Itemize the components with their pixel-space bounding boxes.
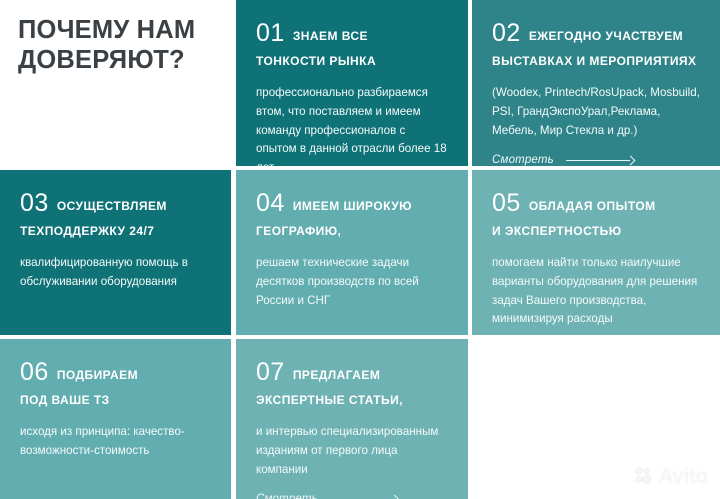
card-02-number: 02: [492, 19, 521, 47]
title-cell: ПОЧЕМУ НАМ ДОВЕРЯЮТ?: [0, 0, 231, 166]
card-05-head: 05ОБЛАДАЯ ОПЫТОМ И ЭКСПЕРТНОСТЬЮ: [492, 187, 700, 241]
card-04-inner: 04ИМЕЕМ ШИРОКУЮ ГЕОГРАФИЮ, решаем технич…: [236, 170, 468, 335]
card-06-number: 06: [20, 358, 49, 386]
card-07[interactable]: 07ПРЕДЛАГАЕМ ЭКСПЕРТНЫЕ СТАТЬИ, и интерв…: [236, 339, 468, 499]
card-03-head-line-1: ОСУЩЕСТВЛЯЕМ: [57, 199, 167, 213]
card-02-head: 02ЕЖЕГОДНО УЧАСТВУЕМ ВЫСТАВКАХ И МЕРОПРИ…: [492, 17, 700, 71]
card-06[interactable]: 06ПОДБИРАЕМ ПОД ВАШЕ ТЗ исходя из принци…: [0, 339, 231, 499]
card-07-body: и интервью специализированным изданиям о…: [256, 423, 448, 479]
avito-watermark: Avito: [636, 466, 708, 487]
card-01-body: профессионально разбираемся втом, что по…: [256, 84, 448, 166]
card-01[interactable]: 01ЗНАЕМ ВСЕ ТОНКОСТИ РЫНКА профессиональ…: [236, 0, 468, 166]
card-03-body: квалифицированную помощь в обслуживании …: [20, 254, 211, 292]
card-05-head-line-1: ОБЛАДАЯ ОПЫТОМ: [529, 199, 656, 213]
card-02-inner: 02ЕЖЕГОДНО УЧАСТВУЕМ ВЫСТАВКАХ И МЕРОПРИ…: [472, 0, 720, 166]
card-06-inner: 06ПОДБИРАЕМ ПОД ВАШЕ ТЗ исходя из принци…: [0, 339, 231, 499]
card-04-head-line-2: ГЕОГРАФИЮ,: [256, 224, 341, 238]
card-02-head-line-1: ЕЖЕГОДНО УЧАСТВУЕМ: [529, 29, 683, 43]
card-03-head: 03ОСУЩЕСТВЛЯЕМ ТЕХПОДДЕРЖКУ 24/7: [20, 187, 211, 241]
card-05-inner: 05ОБЛАДАЯ ОПЫТОМ И ЭКСПЕРТНОСТЬЮ помогае…: [472, 170, 720, 335]
card-05-number: 05: [492, 189, 521, 217]
card-07-head: 07ПРЕДЛАГАЕМ ЭКСПЕРТНЫЕ СТАТЬИ,: [256, 356, 448, 410]
card-06-head: 06ПОДБИРАЕМ ПОД ВАШЕ ТЗ: [20, 356, 211, 410]
card-01-number: 01: [256, 19, 285, 47]
card-03-inner: 03ОСУЩЕСТВЛЯЕМ ТЕХПОДДЕРЖКУ 24/7 квалифи…: [0, 170, 231, 335]
card-07-inner: 07ПРЕДЛАГАЕМ ЭКСПЕРТНЫЕ СТАТЬИ, и интерв…: [236, 339, 468, 499]
card-04-head-line-1: ИМЕЕМ ШИРОКУЮ: [293, 199, 412, 213]
page-title-line-2: ДОВЕРЯЮТ?: [18, 46, 213, 76]
infographic-board: ПОЧЕМУ НАМ ДОВЕРЯЮТ? 01ЗНАЕМ ВСЕ ТОНКОСТ…: [0, 0, 720, 499]
arrow-right-icon: [330, 495, 398, 499]
arrow-right-icon: [566, 156, 634, 165]
card-05-head-line-2: И ЭКСПЕРТНОСТЬЮ: [492, 224, 622, 238]
card-03-head-line-2: ТЕХПОДДЕРЖКУ 24/7: [20, 224, 154, 238]
card-01-inner: 01ЗНАЕМ ВСЕ ТОНКОСТИ РЫНКА профессиональ…: [236, 0, 468, 166]
card-02-body: (Woodex, Printech/RosUpack, Mosbuild, PS…: [492, 84, 700, 140]
title-wrap: ПОЧЕМУ НАМ ДОВЕРЯЮТ?: [0, 0, 231, 75]
card-07-link[interactable]: Смотреть: [256, 493, 448, 499]
card-02-link[interactable]: Смотреть: [492, 154, 700, 166]
card-05[interactable]: 05ОБЛАДАЯ ОПЫТОМ И ЭКСПЕРТНОСТЬЮ помогае…: [472, 170, 720, 335]
card-01-head: 01ЗНАЕМ ВСЕ ТОНКОСТИ РЫНКА: [256, 17, 448, 71]
page-title-line-1: ПОЧЕМУ НАМ: [18, 16, 213, 46]
card-01-head-line-2: ТОНКОСТИ РЫНКА: [256, 54, 376, 68]
card-03-number: 03: [20, 189, 49, 217]
card-02-link-label: Смотреть: [492, 154, 554, 166]
card-06-head-line-1: ПОДБИРАЕМ: [57, 368, 138, 382]
card-07-number: 07: [256, 358, 285, 386]
card-04[interactable]: 04ИМЕЕМ ШИРОКУЮ ГЕОГРАФИЮ, решаем технич…: [236, 170, 468, 335]
card-03[interactable]: 03ОСУЩЕСТВЛЯЕМ ТЕХПОДДЕРЖКУ 24/7 квалифи…: [0, 170, 231, 335]
avito-logo-icon: [636, 468, 653, 485]
card-02-head-line-2: ВЫСТАВКАХ И МЕРОПРИЯТИЯХ: [492, 54, 696, 68]
card-07-head-line-1: ПРЕДЛАГАЕМ: [293, 368, 380, 382]
card-06-body: исходя из принципа: качество-возможности…: [20, 423, 211, 461]
card-04-number: 04: [256, 189, 285, 217]
card-07-head-line-2: ЭКСПЕРТНЫЕ СТАТЬИ,: [256, 393, 403, 407]
card-02[interactable]: 02ЕЖЕГОДНО УЧАСТВУЕМ ВЫСТАВКАХ И МЕРОПРИ…: [472, 0, 720, 166]
card-05-body: помогаем найти только наилучшие варианты…: [492, 254, 700, 329]
avito-watermark-label: Avito: [658, 466, 708, 487]
card-07-link-label: Смотреть: [256, 493, 318, 499]
card-04-body: решаем технические задачи десятков произ…: [256, 254, 448, 310]
page-title: ПОЧЕМУ НАМ ДОВЕРЯЮТ?: [18, 16, 213, 75]
card-04-head: 04ИМЕЕМ ШИРОКУЮ ГЕОГРАФИЮ,: [256, 187, 448, 241]
card-06-head-line-2: ПОД ВАШЕ ТЗ: [20, 393, 110, 407]
card-01-head-line-1: ЗНАЕМ ВСЕ: [293, 29, 368, 43]
